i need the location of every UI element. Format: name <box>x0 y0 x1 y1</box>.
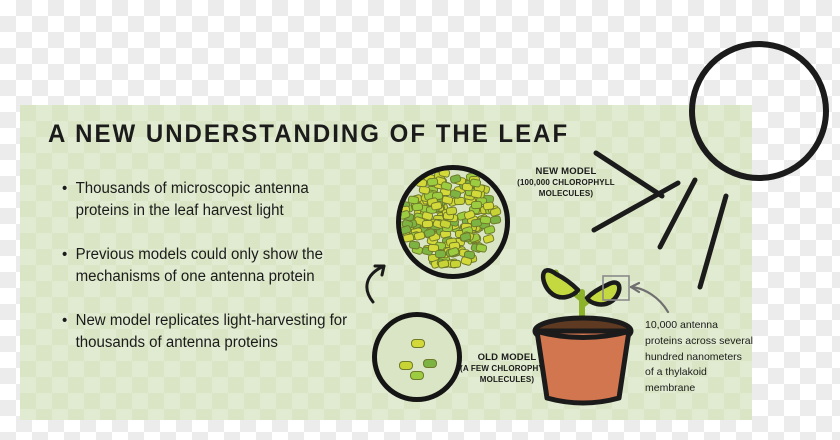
annotation-arrow-icon <box>631 283 668 312</box>
potted-plant-icon <box>535 270 631 403</box>
old-to-new-model-arrow-icon <box>367 266 384 302</box>
sun-rays-icon <box>594 153 726 287</box>
diagram-artwork <box>0 0 840 440</box>
